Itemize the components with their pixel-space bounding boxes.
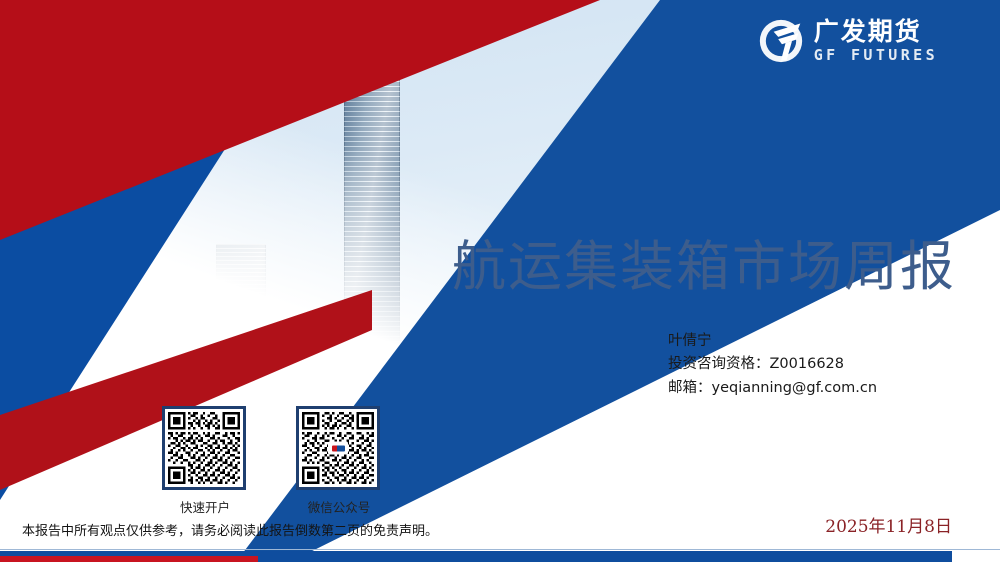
qr-code-block-account[interactable]: 快速开户	[162, 406, 248, 516]
report-cover-slide: 广发期货 GF FUTURES 航运集装箱市场周报 叶倩宁 投资咨询资格：Z00…	[0, 0, 1000, 562]
author-email: 邮箱：yeqianning@gf.com.cn	[668, 377, 877, 400]
author-name: 叶倩宁	[668, 330, 877, 353]
footer-bar-red	[0, 556, 258, 562]
qr-code-icon[interactable]	[162, 406, 246, 490]
qr-center-brand-icon	[328, 442, 348, 455]
gf-monogram-icon	[758, 18, 804, 64]
qr-code-block-wechat[interactable]: 微信公众号	[296, 406, 382, 516]
logo-company-name-en: GF FUTURES	[814, 48, 938, 63]
disclaimer-text: 本报告中所有观点仅供参考，请务必阅读此报告倒数第二页的免责声明。	[22, 520, 438, 539]
logo-company-name-cn: 广发期货	[814, 19, 938, 44]
author-info: 叶倩宁 投资咨询资格：Z0016628 邮箱：yeqianning@gf.com…	[668, 330, 877, 400]
qr-label-wechat: 微信公众号	[296, 497, 382, 516]
qr-code-icon[interactable]	[296, 406, 380, 490]
qr-matrix	[168, 412, 240, 484]
company-logo: 广发期货 GF FUTURES	[758, 18, 938, 64]
author-qualification: 投资咨询资格：Z0016628	[668, 353, 877, 376]
logo-text-block: 广发期货 GF FUTURES	[814, 19, 938, 63]
report-date: 2025年11月8日	[825, 512, 952, 537]
footer-hairline	[0, 549, 1000, 550]
qr-label-account: 快速开户	[162, 497, 248, 516]
page-title: 航运集装箱市场周报	[452, 222, 956, 301]
